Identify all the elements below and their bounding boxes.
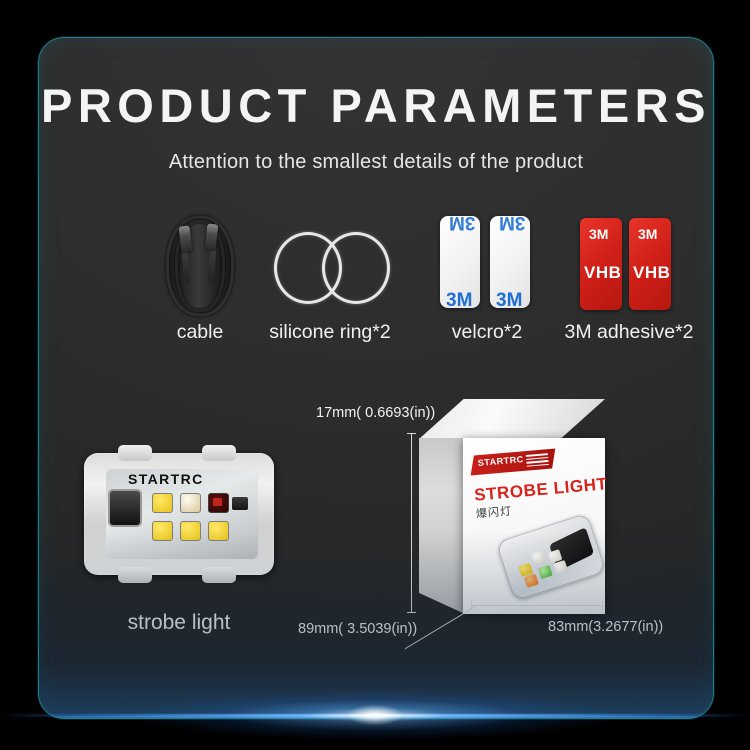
vhb-3m-mark-1: 3M — [589, 226, 608, 242]
product-mount-tab-2 — [202, 445, 236, 461]
velcro-3m-mark-bottom-2: 3M — [496, 290, 522, 308]
accessory-label-silicone-ring: silicone ring*2 — [269, 321, 390, 344]
vhb-mark-2: VHB — [633, 263, 670, 283]
product-brand-text: STARTRC — [128, 471, 204, 487]
velcro-pad-2: 3M 3M — [490, 216, 530, 308]
velcro-pad-1: 3M 3M — [440, 216, 480, 308]
box-side-face — [419, 438, 465, 614]
accessory-label-3m-adhesive: 3M adhesive*2 — [565, 321, 694, 344]
product-mount-tab-1 — [118, 445, 152, 461]
box-title-text: STROBE LIGHT — [473, 474, 608, 506]
box-product-illustration — [496, 513, 606, 602]
product-led-3 — [208, 493, 229, 513]
product-led-1 — [152, 493, 173, 513]
velcro-pad-icon: 3M 3M 3M 3M — [411, 210, 563, 315]
product-led-5 — [180, 521, 201, 541]
accessory-item-velcro: 3M 3M 3M 3M velcro*2 — [411, 210, 563, 350]
accessory-label-velcro: velcro*2 — [452, 321, 522, 344]
product-led-4 — [152, 521, 173, 541]
badge-stripes-icon — [526, 453, 550, 468]
product-caption: strobe light — [84, 611, 274, 635]
content-panel: PRODUCT PARAMETERS Attention to the smal… — [38, 37, 714, 719]
infographic-stage: PRODUCT PARAMETERS Attention to the smal… — [0, 0, 750, 750]
vhb-pad-2: 3M VHB — [629, 218, 671, 310]
accessory-label-cable: cable — [177, 321, 224, 344]
accessory-item-silicone-ring: silicone ring*2 — [251, 210, 409, 350]
box-front-face: STARTRC STROBE LIGHT 爆闪灯 — [463, 438, 605, 614]
page-subtitle: Attention to the smallest details of the… — [39, 151, 713, 174]
silicone-ring-icon — [251, 210, 409, 315]
product-mount-tab-4 — [202, 567, 236, 583]
box-subtitle-chinese: 爆闪灯 — [475, 502, 512, 521]
vhb-pad-1: 3M VHB — [580, 218, 622, 310]
box-brand-badge: STARTRC — [471, 449, 556, 476]
page-title: PRODUCT PARAMETERS — [39, 78, 713, 133]
product-usb-port — [110, 491, 140, 525]
vhb-3m-mark-2: 3M — [638, 226, 657, 242]
product-chip — [232, 497, 248, 510]
strobe-light-product-image: STARTRC — [84, 453, 274, 575]
velcro-3m-mark-bottom: 3M — [446, 290, 472, 308]
box-badge-brand-text: STARTRC — [477, 454, 524, 468]
dimension-line-height — [411, 433, 412, 613]
silicone-ring-2 — [322, 232, 390, 304]
bottom-beam-core — [335, 700, 415, 730]
box-top-face — [419, 399, 605, 439]
product-mount-tab-3 — [118, 567, 152, 583]
dimension-label-width: 89mm( 3.5039(in)) — [298, 621, 417, 637]
dimension-label-height: 17mm( 0.6693(in)) — [316, 405, 435, 421]
accessory-item-3m-adhesive: 3M VHB 3M VHB 3M adhesive*2 — [545, 210, 713, 350]
dimension-label-depth: 83mm(3.2677(in)) — [548, 619, 663, 635]
retail-box-image: STARTRC STROBE LIGHT 爆闪灯 — [419, 399, 659, 614]
velcro-3m-mark-top-2: 3M — [499, 216, 525, 233]
vhb-mark-1: VHB — [584, 263, 621, 283]
velcro-3m-mark-top: 3M — [449, 216, 475, 233]
dimension-line-depth — [471, 605, 603, 606]
product-led-6 — [208, 521, 229, 541]
product-led-2 — [180, 493, 201, 513]
vhb-adhesive-icon: 3M VHB 3M VHB — [545, 210, 713, 315]
